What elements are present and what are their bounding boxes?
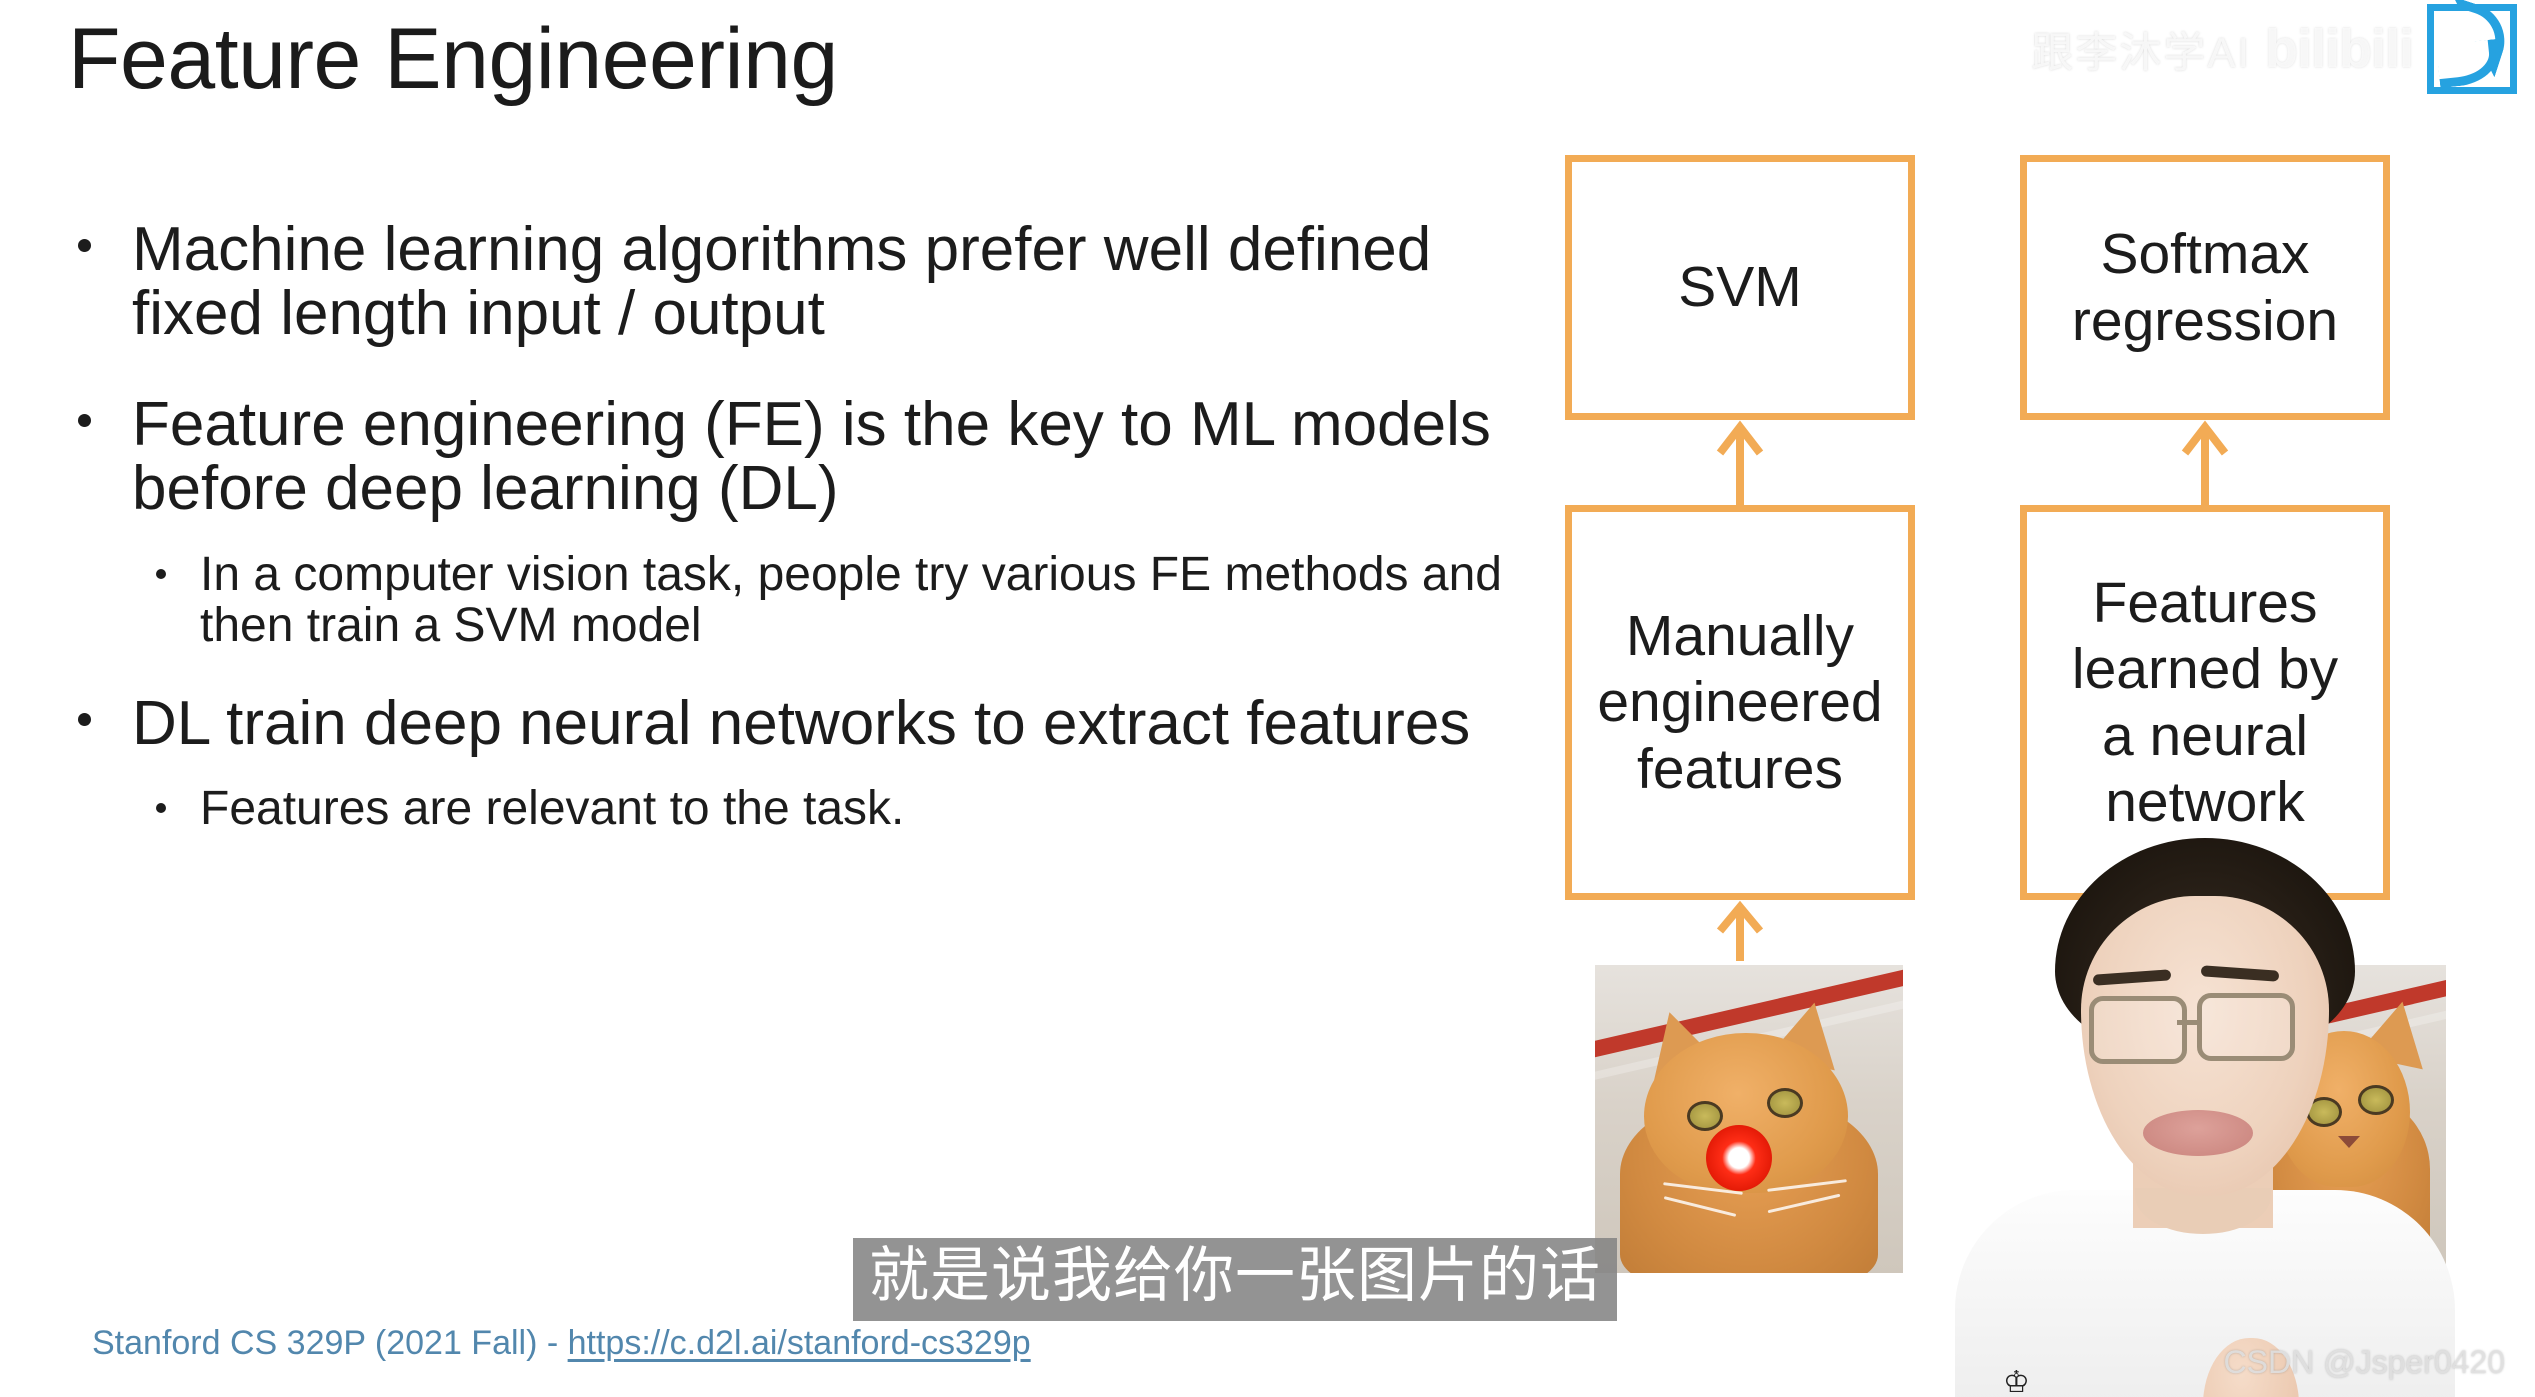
bilibili-wordmark: bilibili <box>2265 18 2413 80</box>
footer-prefix: Stanford CS 329P (2021 Fall) - <box>92 1324 568 1362</box>
node-label: Manuallyengineeredfeatures <box>1597 603 1882 801</box>
arrow-up-icon <box>1714 899 1766 961</box>
bullet-text: Features are relevant to the task. <box>200 782 904 835</box>
laser-pointer-dot <box>1706 1125 1772 1191</box>
cat-illustration <box>1595 965 1903 1273</box>
bullet-text: In a computer vision task, people try va… <box>200 548 1502 652</box>
bullet-text: DL train deep neural networks to extract… <box>132 689 1470 758</box>
presenter-mouth <box>2143 1110 2253 1156</box>
node-label: SVM <box>1678 254 1802 320</box>
diagram-node-svm: SVM <box>1565 155 1915 420</box>
bullet-dot-icon <box>78 239 91 252</box>
bilibili-logo-icon <box>2427 4 2517 94</box>
bullet-text: Machine learning algorithms prefer well … <box>132 215 1431 348</box>
bullet-dot-icon <box>156 569 166 579</box>
shirt-logo-icon: ♔ <box>2003 1368 2039 1397</box>
arrow-up-icon <box>1714 419 1766 505</box>
bullet-text: Feature engineering (FE) is the key to M… <box>132 390 1491 523</box>
slide-canvas: Feature Engineering Machine learning alg… <box>0 0 2535 1397</box>
node-label: Featureslearned bya neuralnetwork <box>2072 570 2338 834</box>
bilibili-channel-name: 跟李沐学AI <box>2031 19 2251 80</box>
page-title: Feature Engineering <box>68 14 838 104</box>
sub-bullet-item-1: In a computer vision task, people try va… <box>60 550 1540 652</box>
node-label: Softmaxregression <box>2072 221 2338 353</box>
csdn-watermark: CSDN @Jsper0420 <box>2224 1344 2505 1381</box>
arrow-up-icon <box>2179 419 2231 505</box>
bullet-item-2: Feature engineering (FE) is the key to M… <box>60 393 1540 522</box>
glasses-lens-right <box>2197 993 2295 1061</box>
pipeline-diagram: SVM Softmaxregression Manuallyengineered… <box>1565 155 2425 945</box>
sub-bullet-item-2: Features are relevant to the task. <box>60 784 1540 835</box>
bullet-dot-icon <box>156 803 166 813</box>
bullet-item-3: DL train deep neural networks to extract… <box>60 692 1540 756</box>
bullet-dot-icon <box>78 713 91 726</box>
glasses-lens-left <box>2089 996 2187 1064</box>
presenter-overlay: ♔ <box>1885 838 2535 1397</box>
bullet-item-1: Machine learning algorithms prefer well … <box>60 218 1540 347</box>
diagram-node-manual-features: Manuallyengineeredfeatures <box>1565 505 1915 900</box>
cat-input-image <box>1595 965 1903 1273</box>
bullet-dot-icon <box>78 414 91 427</box>
cat-eye-left <box>1687 1101 1723 1131</box>
course-link[interactable]: https://c.d2l.ai/stanford-cs329p <box>568 1324 1031 1362</box>
footer-credit: Stanford CS 329P (2021 Fall) - https://c… <box>92 1324 1031 1363</box>
video-subtitle: 就是说我给你一张图片的话 <box>853 1238 1617 1321</box>
bilibili-watermark: 跟李沐学AI bilibili <box>2031 4 2517 94</box>
glasses-bridge <box>2177 1020 2197 1025</box>
diagram-node-softmax: Softmaxregression <box>2020 155 2390 420</box>
slide-body: Machine learning algorithms prefer well … <box>60 218 1540 861</box>
